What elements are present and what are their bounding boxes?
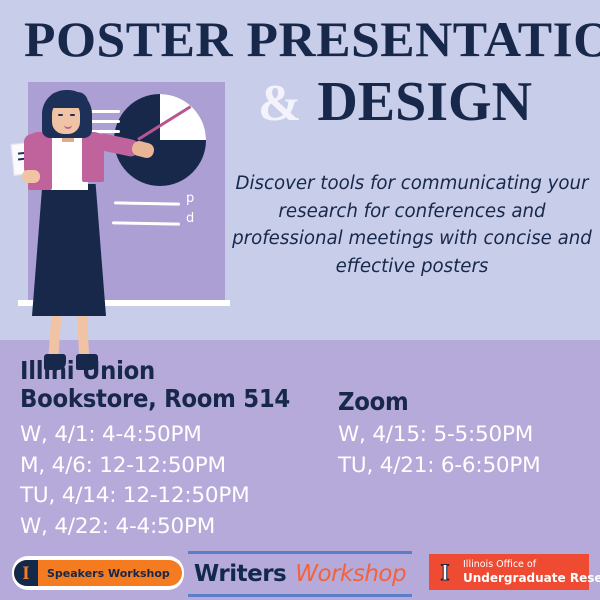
session-time: W, 4/22: 4-4:50PM <box>20 512 340 543</box>
logo-writers-word1: Writers <box>194 561 286 587</box>
logo-writers-workshop[interactable]: Writers Workshop <box>188 551 412 597</box>
presenter-skirt <box>32 184 106 316</box>
logo-undergraduate-research[interactable]: I Illinois Office of Undergraduate Resea… <box>429 554 589 590</box>
presenter-eye-right <box>70 114 75 116</box>
presenter-leg-right <box>77 312 89 356</box>
session-time: TU, 4/21: 6-6:50PM <box>338 451 588 482</box>
ampersand-glyph: & <box>258 75 301 132</box>
presenter-illustration: p d <box>0 76 230 346</box>
board-glyph-1: p <box>186 192 194 205</box>
venue-line-2: Bookstore, Room 514 <box>20 385 327 413</box>
venue-zoom: Zoom <box>338 388 561 416</box>
page-title-design: DESIGN <box>317 71 532 133</box>
session-time: TU, 4/14: 12-12:50PM <box>20 481 340 512</box>
presenter-hand-left <box>22 170 40 183</box>
presenter-hair-bangs <box>48 92 88 108</box>
page-title-line2: &DESIGN <box>258 74 598 130</box>
logo-our-line1: Illinois Office of <box>463 559 600 571</box>
poster-canvas: POSTER PRESENTATION &DESIGN Discover too… <box>0 0 600 600</box>
logo-writers-word2: Workshop <box>295 561 406 587</box>
session-time: W, 4/15: 5-5:50PM <box>338 420 588 451</box>
block-i-glyph: I <box>441 561 450 584</box>
block-i-glyph: I <box>22 564 29 583</box>
description-text: Discover tools for communicating your re… <box>228 170 596 281</box>
illinois-block-i-icon: I <box>14 560 38 586</box>
page-title-line1: POSTER PRESENTATION <box>24 14 600 64</box>
session-times-zoom: W, 4/15: 5-5:50PM TU, 4/21: 6-6:50PM <box>338 420 588 481</box>
session-time: M, 4/6: 12-12:50PM <box>20 451 340 482</box>
logo-our-text: Illinois Office of Undergraduate Researc… <box>463 559 600 585</box>
board-glyph-2: d <box>186 212 194 225</box>
session-time: W, 4/1: 4-4:50PM <box>20 420 340 451</box>
illinois-block-i-icon: I <box>434 559 456 585</box>
presenter-eye-left <box>58 114 63 116</box>
session-times-illini-union: W, 4/1: 4-4:50PM M, 4/6: 12-12:50PM TU, … <box>20 420 340 542</box>
venue-illini-union: Illini Union Bookstore, Room 514 <box>20 357 327 414</box>
logo-speakers-workshop[interactable]: I Speakers Workshop <box>12 556 184 590</box>
logo-speakers-pill: I Speakers Workshop <box>14 560 182 586</box>
logo-speakers-label: Speakers Workshop <box>47 567 170 580</box>
logo-our-line2: Undergraduate Research <box>463 571 600 585</box>
venue-line-1: Illini Union <box>20 357 327 385</box>
